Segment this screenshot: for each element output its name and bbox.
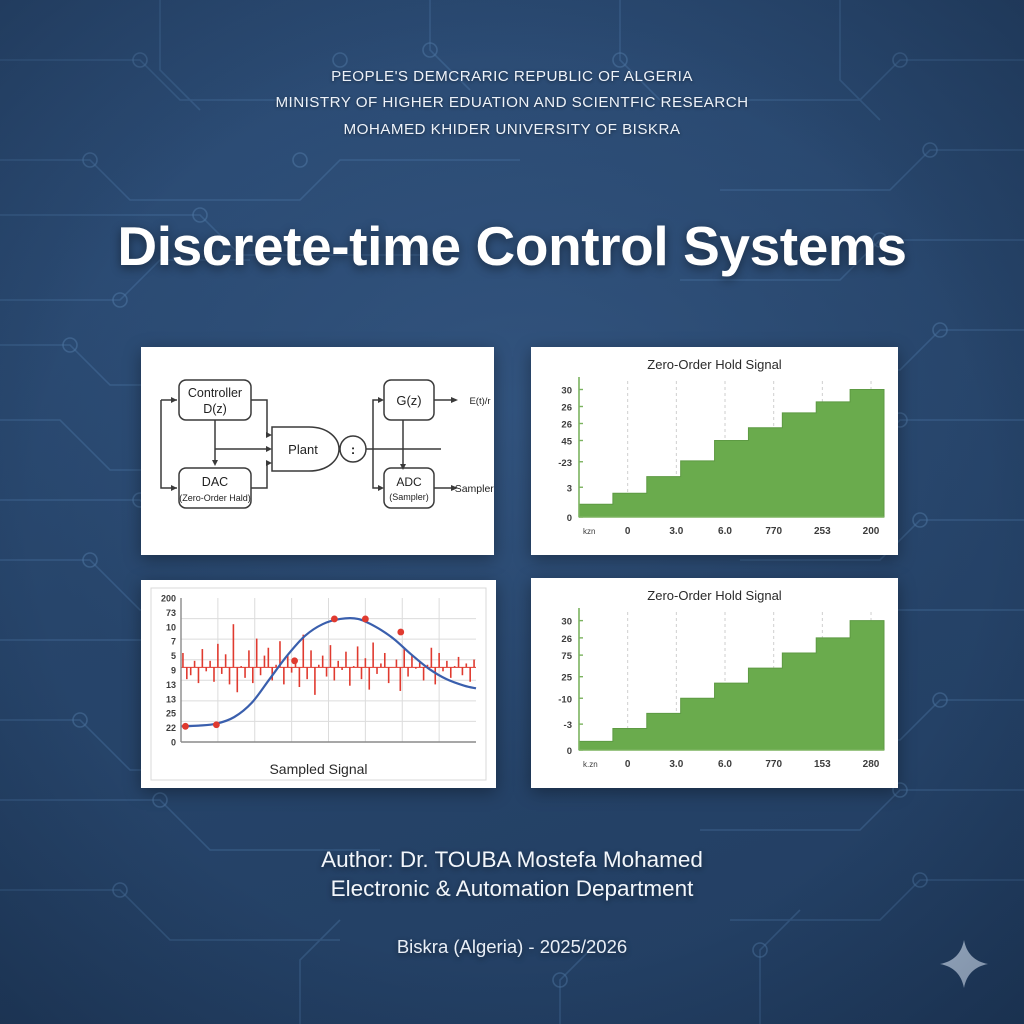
x-tick-label: 200 xyxy=(863,526,880,537)
block-label-adc-sub: (Sampler) xyxy=(389,492,429,502)
x-tick-label: 770 xyxy=(765,526,782,537)
header-line-country: PEOPLE'S DEMCRARIC REPUBLIC OF ALGERIA xyxy=(0,64,1024,90)
y-tick-label: 0 xyxy=(567,513,572,524)
y-tick-label: 25 xyxy=(166,709,176,719)
y-tick-label: 26 xyxy=(561,420,572,431)
x-tick-label: 3.0 xyxy=(669,526,683,537)
block-label-gz: G(z) xyxy=(396,393,421,408)
sample-point xyxy=(182,723,189,730)
place-year-block: Biskra (Algeria) - 2025/2026 xyxy=(0,936,1024,958)
x-tick-label: 0 xyxy=(625,526,631,537)
block-diagram-panel: Controller D(z) DAC (Zero-Order Hald) Pl… xyxy=(141,347,494,555)
x-tick-label: kzn xyxy=(583,527,595,536)
y-tick-label: 10 xyxy=(166,622,176,632)
y-tick-label: 0 xyxy=(567,746,572,757)
chart-title: Zero-Order Hold Signal xyxy=(647,357,781,372)
y-tick-label: 0 xyxy=(171,738,176,748)
block-label-dac-sub: (Zero-Order Hald) xyxy=(179,493,251,503)
slide-root: PEOPLE'S DEMCRARIC REPUBLIC OF ALGERIA M… xyxy=(0,0,1024,1024)
y-tick-label: 13 xyxy=(166,680,176,690)
sample-point xyxy=(362,616,369,623)
zero-order-hold-chart-top: Zero-Order Hold Signal30262645-2330kzn03… xyxy=(531,347,898,555)
y-tick-label: 200 xyxy=(161,594,176,604)
page-title: Discrete-time Control Systems xyxy=(0,214,1024,278)
chart-title: Sampled Signal xyxy=(269,761,367,777)
output-label-bottom: Sampler) xyxy=(455,483,494,495)
x-tick-label: 280 xyxy=(863,759,880,770)
y-tick-label: 25 xyxy=(561,673,572,684)
author-block: Author: Dr. TOUBA Mostefa Mohamed Electr… xyxy=(0,845,1024,903)
chart-title: Zero-Order Hold Signal xyxy=(647,588,781,603)
sample-point xyxy=(213,721,220,728)
y-tick-label: 73 xyxy=(166,608,176,618)
author-name: Author: Dr. TOUBA Mostefa Mohamed xyxy=(0,845,1024,874)
y-tick-label: 30 xyxy=(561,386,572,397)
y-tick-label: 30 xyxy=(561,617,572,628)
y-tick-label: 22 xyxy=(166,723,176,733)
zoh-chart-top-panel: Zero-Order Hold Signal30262645-2330kzn03… xyxy=(531,347,898,555)
control-loop-block-diagram: Controller D(z) DAC (Zero-Order Hald) Pl… xyxy=(141,347,494,555)
y-tick-label: 7 xyxy=(171,637,176,647)
zoh-chart-bottom-panel: Zero-Order Hold Signal30267525-10-30k.zn… xyxy=(531,578,898,788)
sampled-signal-panel: 2007310759131325220Sampled Signal xyxy=(141,580,496,788)
place-year: Biskra (Algeria) - 2025/2026 xyxy=(0,936,1024,958)
y-tick-label: 5 xyxy=(171,651,176,661)
y-tick-label: 26 xyxy=(561,634,572,645)
block-label-adc: ADC xyxy=(396,475,422,489)
output-label-top: E(t)/r xyxy=(469,396,490,407)
sample-point xyxy=(331,616,338,623)
block-label-controller: Controller xyxy=(188,386,242,400)
sample-point xyxy=(397,629,404,636)
sampled-signal-chart: 2007310759131325220Sampled Signal xyxy=(141,580,496,788)
zero-order-hold-chart-bottom: Zero-Order Hold Signal30267525-10-30k.zn… xyxy=(531,578,898,788)
y-tick-label: 75 xyxy=(561,651,572,662)
x-tick-label: k.zn xyxy=(583,760,598,769)
x-tick-label: 153 xyxy=(814,759,831,770)
y-tick-label: 9 xyxy=(171,666,176,676)
x-tick-label: 253 xyxy=(814,526,831,537)
y-tick-label: -3 xyxy=(564,720,572,731)
header-line-ministry: MINISTRY OF HIGHER EDUATION AND SCIENTFI… xyxy=(0,90,1024,116)
header-line-university: MOHAMED KHIDER UNIVERSITY OF BISKRA xyxy=(0,117,1024,143)
institution-header: PEOPLE'S DEMCRARIC REPUBLIC OF ALGERIA M… xyxy=(0,64,1024,143)
y-tick-label: -23 xyxy=(558,458,572,469)
block-label-dac: DAC xyxy=(202,475,228,489)
y-tick-label: 3 xyxy=(567,483,572,494)
author-department: Electronic & Automation Department xyxy=(0,874,1024,903)
x-tick-label: 0 xyxy=(625,759,631,770)
block-label-controller-tf: D(z) xyxy=(203,402,227,416)
sample-point xyxy=(291,657,298,664)
junction-node-label: : xyxy=(351,442,355,457)
x-tick-label: 6.0 xyxy=(718,526,732,537)
x-tick-label: 6.0 xyxy=(718,759,732,770)
block-label-plant: Plant xyxy=(288,442,318,457)
y-tick-label: 13 xyxy=(166,694,176,704)
x-tick-label: 770 xyxy=(765,759,782,770)
y-tick-label: -10 xyxy=(558,694,572,705)
y-tick-label: 45 xyxy=(561,437,572,448)
y-tick-label: 26 xyxy=(561,403,572,414)
sparkle-icon xyxy=(938,938,990,990)
x-tick-label: 3.0 xyxy=(669,759,683,770)
